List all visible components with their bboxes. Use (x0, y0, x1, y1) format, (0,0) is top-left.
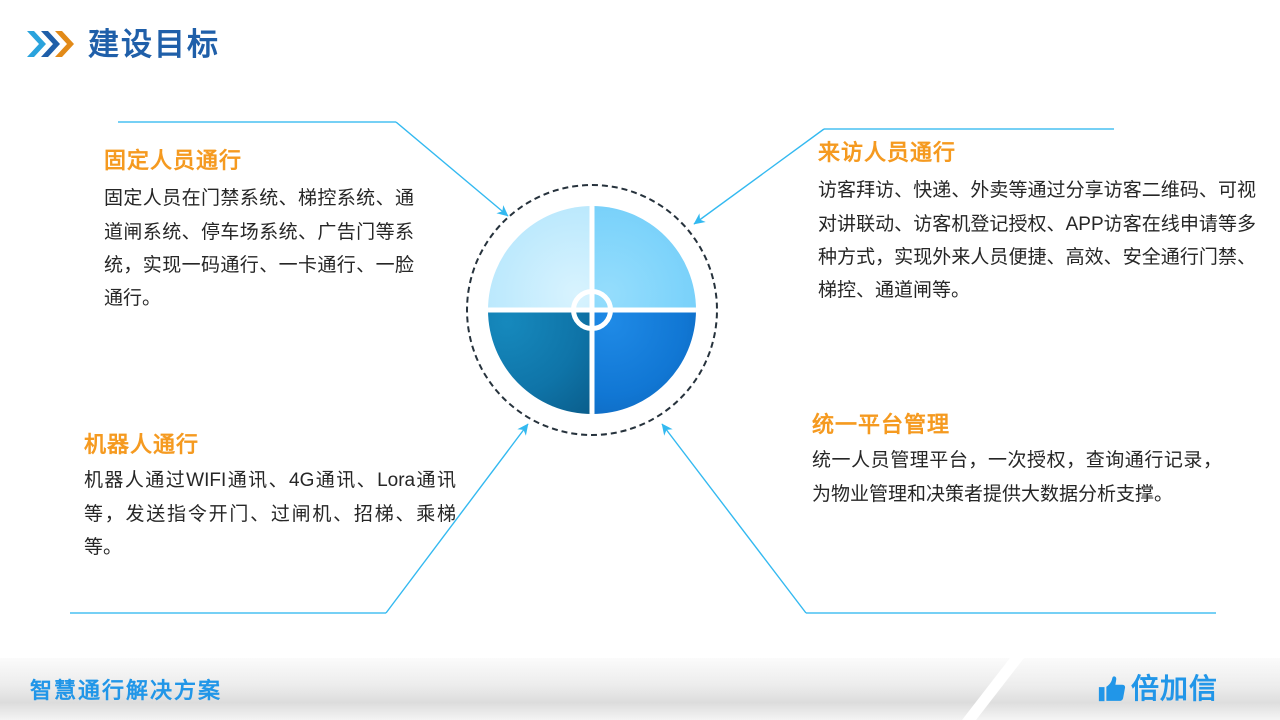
thumbs-up-icon (1097, 674, 1127, 704)
block-platform-title: 统一平台管理 (812, 412, 1222, 438)
triple-chevron-icon (26, 27, 76, 61)
slide-root: 建设目标 (0, 0, 1280, 720)
block-robot-passage: 机器人通行 机器人通过WIFI通讯、4G通讯、Lora通讯等，发送指令开门、过闸… (84, 432, 456, 564)
quadrant-top-right[interactable] (592, 206, 696, 310)
block-fixed-personnel: 固定人员通行 固定人员在门禁系统、梯控系统、通道闸系统、停车场系统、广告门等系统… (104, 148, 414, 315)
brand-name: 倍加信 (1131, 675, 1218, 703)
quadrant-bottom-right[interactable] (592, 310, 696, 414)
block-fixed-body: 固定人员在门禁系统、梯控系统、通道闸系统、停车场系统、广告门等系统，实现一码通行… (104, 182, 414, 315)
block-robot-title: 机器人通行 (84, 432, 456, 458)
block-fixed-title: 固定人员通行 (104, 148, 414, 174)
block-visitor-personnel: 来访人员通行 访客拜访、快递、外卖等通过分享访客二维码、可视对讲联动、访客机登记… (818, 140, 1256, 307)
page-title-row: 建设目标 (26, 27, 220, 61)
block-visitor-body: 访客拜访、快递、外卖等通过分享访客二维码、可视对讲联动、访客机登记授权、APP访… (818, 174, 1256, 307)
center-ring-icon (571, 289, 613, 331)
page-title: 建设目标 (88, 29, 220, 60)
block-platform-body: 统一人员管理平台，一次授权，查询通行记录，为物业管理和决策者提供大数据分析支撑。 (812, 444, 1222, 511)
brand-logo: 倍加信 (1097, 658, 1218, 720)
four-quadrant-circle (466, 184, 718, 436)
footer-caption: 智慧通行解决方案 (30, 658, 222, 720)
block-platform-management: 统一平台管理 统一人员管理平台，一次授权，查询通行记录，为物业管理和决策者提供大… (812, 412, 1222, 511)
quadrant-bottom-left[interactable] (488, 310, 592, 414)
quadrant-pie (488, 206, 696, 414)
block-robot-body: 机器人通过WIFI通讯、4G通讯、Lora通讯等，发送指令开门、过闸机、招梯、乘… (84, 464, 456, 564)
block-visitor-title: 来访人员通行 (818, 140, 1256, 166)
footer-bar: 智慧通行解决方案 倍加信 (0, 658, 1280, 720)
